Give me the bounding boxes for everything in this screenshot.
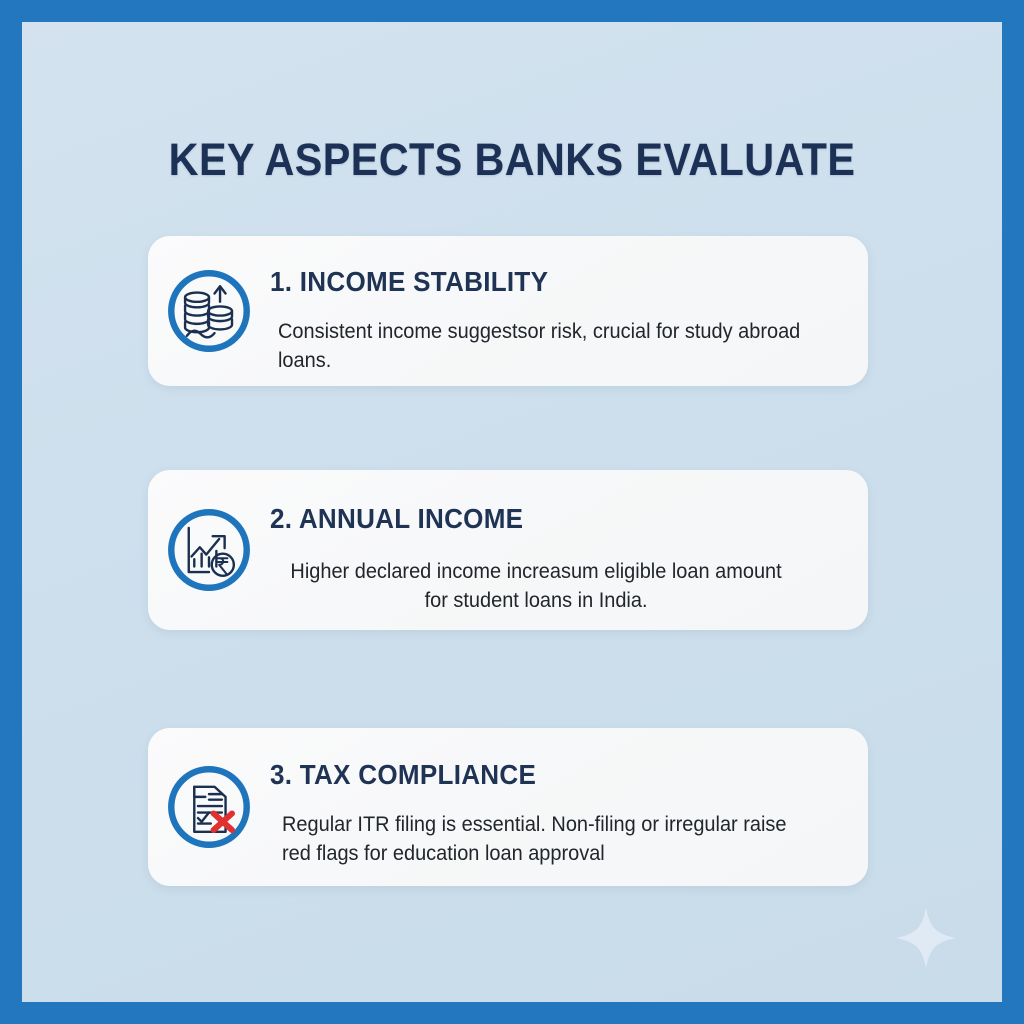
infographic-panel: KEY ASPECTS BANKS EVALUATE	[22, 22, 1002, 1002]
card-body: Higher declared income increasum eligibl…	[284, 557, 827, 615]
card-body: Consistent income suggestsor risk, cruci…	[278, 317, 814, 375]
card-body: Regular ITR filing is essential. Non-fil…	[282, 810, 814, 868]
card-heading: 1. INCOME STABILITY	[270, 266, 802, 298]
card-heading: 2. ANNUAL INCOME	[270, 503, 802, 535]
card-text: 2. ANNUAL INCOME Higher declared income …	[270, 470, 868, 615]
card-heading: 3. TAX COMPLIANCE	[270, 759, 802, 791]
card-text: 3. TAX COMPLIANCE Regular ITR filing is …	[270, 728, 868, 868]
infographic-poster: KEY ASPECTS BANKS EVALUATE	[0, 0, 1024, 1024]
tax-document-cross-icon	[163, 761, 255, 853]
aspect-card-income-stability[interactable]: 1. INCOME STABILITY Consistent income su…	[148, 236, 868, 386]
aspect-card-tax-compliance[interactable]: 3. TAX COMPLIANCE Regular ITR filing is …	[148, 728, 868, 886]
coin-stack-growth-icon	[163, 265, 255, 357]
icon-container	[148, 236, 270, 386]
icon-container	[148, 728, 270, 886]
card-text: 1. INCOME STABILITY Consistent income su…	[270, 236, 868, 375]
four-point-star-icon	[894, 906, 958, 970]
aspect-card-list: 1. INCOME STABILITY Consistent income su…	[22, 22, 1002, 1002]
icon-container	[148, 470, 270, 630]
income-chart-rupee-icon	[163, 504, 255, 596]
aspect-card-annual-income[interactable]: 2. ANNUAL INCOME Higher declared income …	[148, 470, 868, 630]
